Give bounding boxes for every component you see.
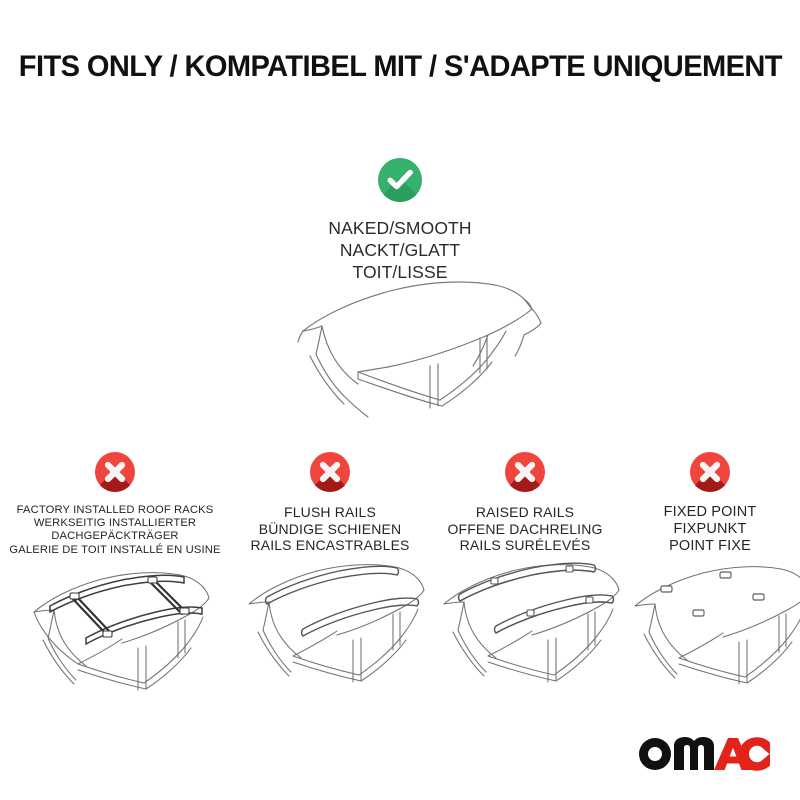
label-de-line2: DACHGEPÄCKTRÄGER bbox=[0, 530, 230, 543]
raised-rails-roof-illustration bbox=[420, 544, 630, 694]
x-mark-glyph bbox=[505, 452, 545, 492]
label-en: FACTORY INSTALLED ROOF RACKS bbox=[0, 504, 230, 517]
label-de: OFFENE DACHRELING bbox=[430, 521, 620, 538]
label-de: BÜNDIGE SCHIENEN bbox=[230, 521, 430, 538]
label-en: FLUSH RAILS bbox=[230, 504, 430, 521]
not-compatible-item-fixed-point: FIXED POINT FIXPUNKT POINT FIXE bbox=[620, 452, 800, 555]
not-compatible-item-flush-rails: FLUSH RAILS BÜNDIGE SCHIENEN RAILS ENCAS… bbox=[230, 452, 430, 554]
fixed-point-roof-illustration bbox=[605, 544, 800, 694]
label-de: FIXPUNKT bbox=[620, 521, 800, 538]
check-circle-icon bbox=[378, 158, 422, 202]
compatible-labels: NAKED/SMOOTH NACKT/GLATT TOIT/LISSE bbox=[0, 218, 800, 284]
title-bar: FITS ONLY / KOMPATIBEL MIT / S'ADAPTE UN… bbox=[0, 52, 800, 82]
compatible-section: NAKED/SMOOTH NACKT/GLATT TOIT/LISSE bbox=[0, 158, 800, 284]
label-en: FIXED POINT bbox=[620, 504, 800, 521]
not-compatible-item-raised-rails: RAISED RAILS OFFENE DACHRELING RAILS SUR… bbox=[430, 452, 620, 554]
x-circle-icon bbox=[95, 452, 135, 492]
not-compatible-section: FACTORY INSTALLED ROOF RACKS WERKSEITIG … bbox=[0, 452, 800, 712]
x-circle-icon bbox=[310, 452, 350, 492]
label-en: RAISED RAILS bbox=[430, 504, 620, 521]
logo-letter-m bbox=[674, 737, 714, 770]
check-mark-glyph bbox=[378, 158, 422, 202]
smooth-roof-illustration bbox=[262, 276, 562, 436]
not-compatible-labels: FACTORY INSTALLED ROOF RACKS WERKSEITIG … bbox=[0, 504, 230, 557]
page-title: FITS ONLY / KOMPATIBEL MIT / S'ADAPTE UN… bbox=[18, 52, 781, 82]
not-compatible-item-factory-installed-roof-racks: FACTORY INSTALLED ROOF RACKS WERKSEITIG … bbox=[0, 452, 230, 557]
x-mark-glyph bbox=[310, 452, 350, 492]
x-mark-glyph bbox=[95, 452, 135, 492]
label-de-line1: WERKSEITIG INSTALLIERTER bbox=[0, 517, 230, 530]
compatible-label-en: NAKED/SMOOTH bbox=[0, 218, 800, 240]
x-circle-icon bbox=[505, 452, 545, 492]
flush-rails-roof-illustration bbox=[225, 544, 435, 694]
x-circle-icon bbox=[690, 452, 730, 492]
logo-letter-o bbox=[639, 738, 671, 770]
omac-logo bbox=[638, 734, 770, 774]
factory-rack-roof-illustration bbox=[10, 552, 220, 702]
compatible-label-de: NACKT/GLATT bbox=[0, 240, 800, 262]
x-mark-glyph bbox=[690, 452, 730, 492]
